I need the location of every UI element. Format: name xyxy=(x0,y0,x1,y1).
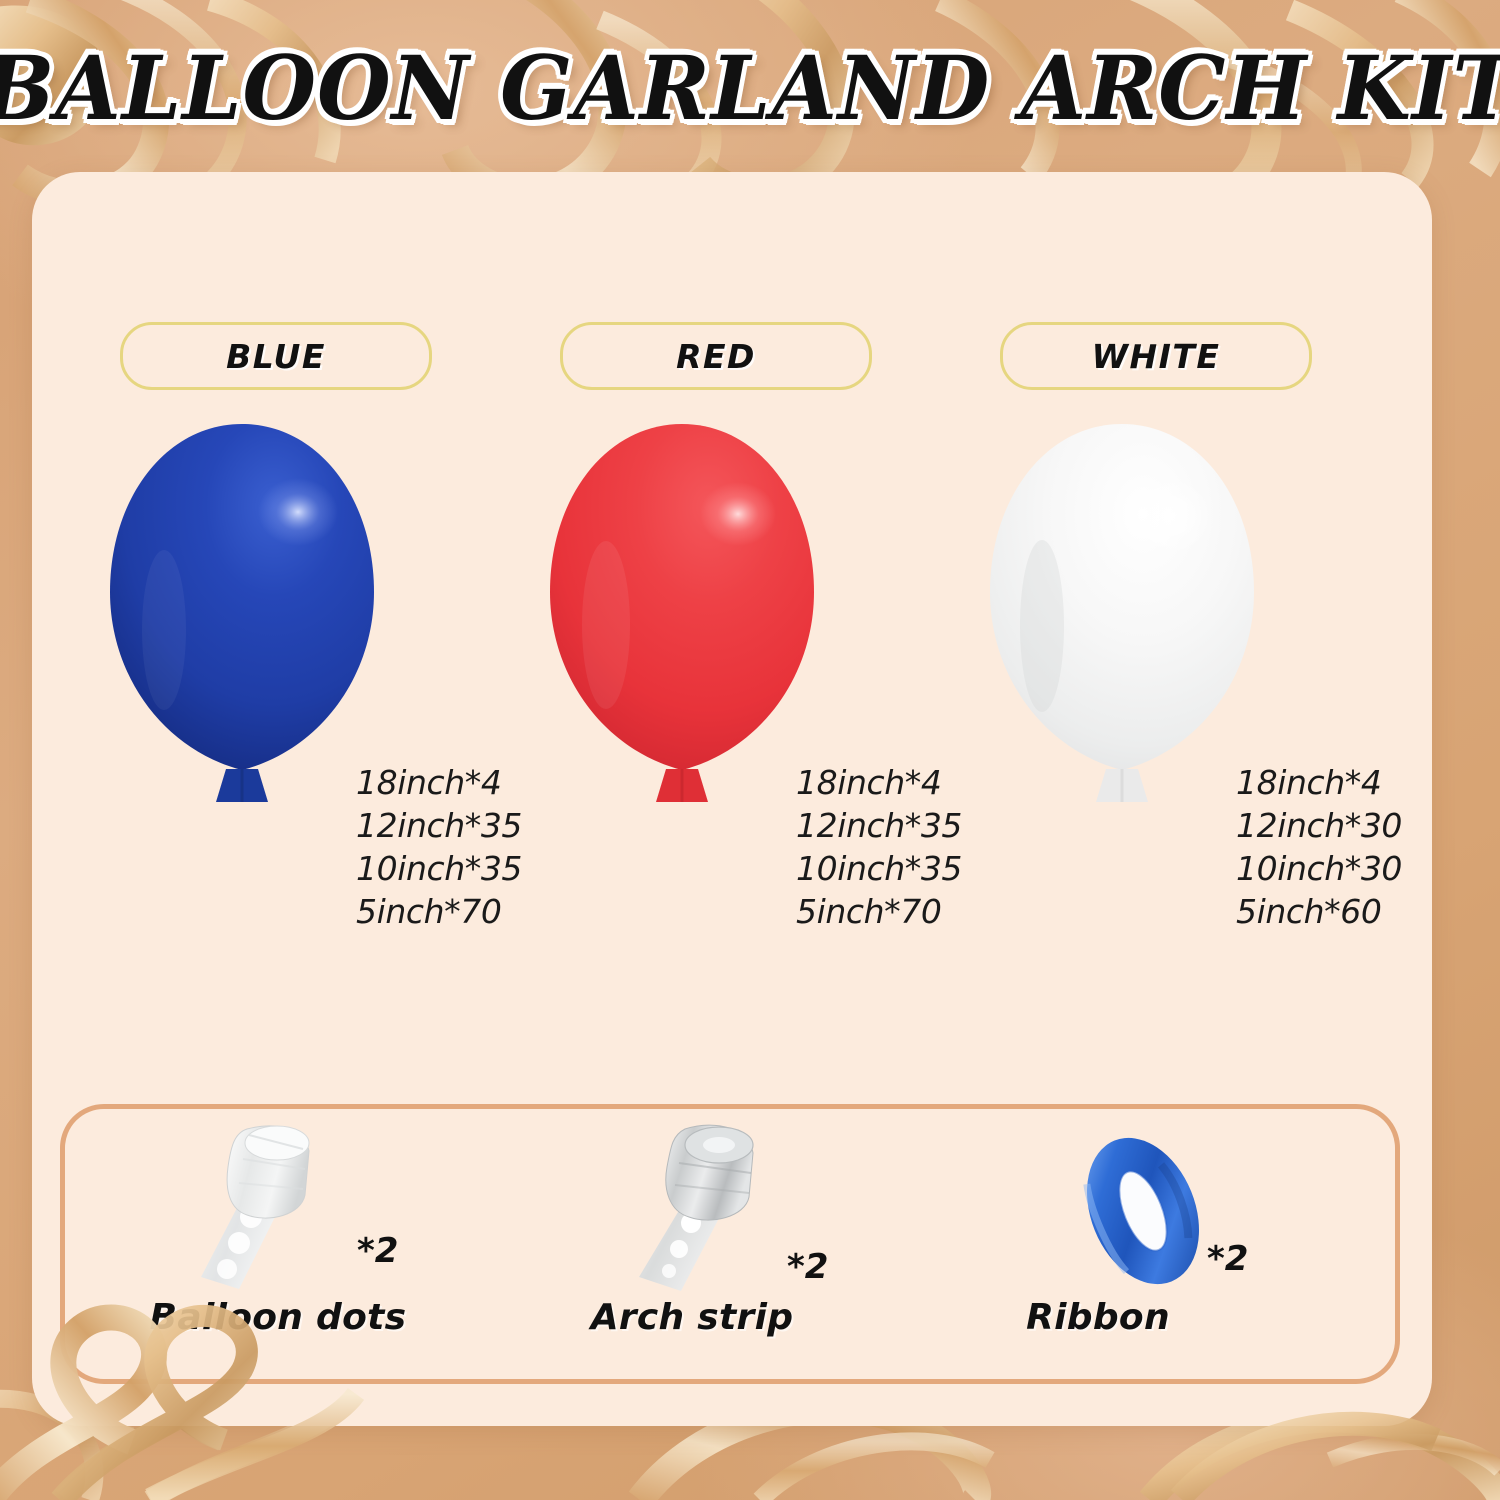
color-label-text: WHITE xyxy=(1092,337,1221,376)
accessory-balloon-dots: *2 Balloon dots xyxy=(75,1109,505,1379)
page-title-text: BALLOON GARLAND ARCH KIT xyxy=(0,36,1500,140)
balloon-icon-white xyxy=(972,420,1272,820)
balloon-icon-blue xyxy=(92,420,392,820)
spec-line: 10inch*30 xyxy=(1236,848,1402,891)
balloon-icon-red xyxy=(532,420,832,820)
color-label-text: BLUE xyxy=(226,337,326,376)
glue-dots-roll-icon xyxy=(195,1119,365,1294)
spec-line: 5inch*70 xyxy=(356,891,522,934)
spec-line: 10inch*35 xyxy=(356,848,522,891)
balloon-column-red: RED xyxy=(528,172,978,1072)
arch-strip-roll-icon xyxy=(635,1119,805,1294)
balloon-column-blue: BLUE xyxy=(88,172,538,1072)
accessory-ribbon: *2 Ribbon xyxy=(945,1109,1375,1379)
spec-line: 12inch*30 xyxy=(1236,805,1402,848)
spec-line: 18inch*4 xyxy=(1236,762,1402,805)
balloon-specs-white: 18inch*4 12inch*30 10inch*30 5inch*60 xyxy=(1236,762,1402,934)
accessory-arch-strip: *2 Arch strip xyxy=(515,1109,945,1379)
accessory-name: Balloon dots xyxy=(63,1297,493,1338)
spec-line: 12inch*35 xyxy=(356,805,522,848)
color-label-pill-red: RED xyxy=(560,322,872,390)
accessory-quantity: *2 xyxy=(1207,1239,1248,1279)
accessories-panel: *2 Balloon dots xyxy=(60,1104,1400,1384)
color-label-pill-white: WHITE xyxy=(1000,322,1312,390)
balloon-specs-blue: 18inch*4 12inch*35 10inch*35 5inch*70 xyxy=(356,762,522,934)
accessory-quantity: *2 xyxy=(787,1247,828,1287)
spec-line: 18inch*4 xyxy=(796,762,962,805)
color-label-text: RED xyxy=(676,337,756,376)
color-label-pill-blue: BLUE xyxy=(120,322,432,390)
spec-line: 10inch*35 xyxy=(796,848,962,891)
accessory-name: Ribbon xyxy=(883,1297,1313,1338)
infographic-canvas: BALLOON GARLAND ARCH KIT BLUE xyxy=(0,0,1500,1500)
balloon-color-columns: BLUE xyxy=(32,172,1432,1072)
accessory-quantity: *2 xyxy=(357,1231,398,1271)
spec-line: 18inch*4 xyxy=(356,762,522,805)
spec-line: 5inch*70 xyxy=(796,891,962,934)
spec-line: 12inch*35 xyxy=(796,805,962,848)
balloon-specs-red: 18inch*4 12inch*35 10inch*35 5inch*70 xyxy=(796,762,962,934)
product-card: BLUE xyxy=(32,172,1432,1426)
accessory-name: Arch strip xyxy=(477,1297,907,1338)
balloon-column-white: WHITE xyxy=(968,172,1418,1072)
spec-line: 5inch*60 xyxy=(1236,891,1402,934)
page-title: BALLOON GARLAND ARCH KIT xyxy=(0,28,1500,148)
